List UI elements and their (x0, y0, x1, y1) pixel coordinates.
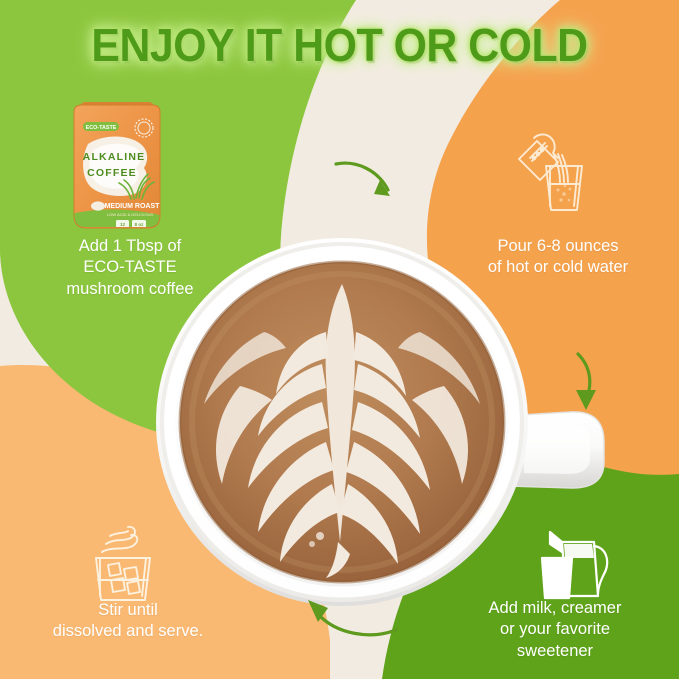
step-3-caption: Stir until dissolved and serve. (8, 600, 248, 643)
pouch-badge-left: 12 (120, 222, 126, 227)
page-title: ENJOY IT HOT OR COLD (24, 22, 655, 68)
iced-glass-stir-icon (80, 518, 166, 604)
arrow-step4-to-step3 (292, 588, 404, 646)
step-1-caption: Add 1 Tbsp of ECO-TASTE mushroom coffee (10, 236, 250, 300)
product-pouch-image: ECO-TASTE ALKALINE COFFEE MEDIUM ROAST L… (64, 98, 170, 233)
pouch-roast: MEDIUM ROAST (105, 203, 161, 210)
pouch-name-line1: ALKALINE (83, 151, 146, 163)
pouch-subtitle: LOW ACID & DELICIOUS (107, 212, 153, 217)
infographic-canvas: ENJOY IT HOT OR COLD (0, 0, 679, 679)
milk-pitcher-icon (528, 520, 614, 606)
arrow-step1-to-step2 (330, 150, 410, 212)
pour-water-icon (512, 128, 592, 214)
pouch-badge-right: 8 oz (135, 222, 145, 227)
arrow-step2-to-step4 (556, 352, 628, 418)
pouch-brand-text: ECO-TASTE (86, 125, 117, 131)
pouch-name-line2: COFFEE (87, 167, 137, 179)
step-2-caption: Pour 6-8 ounces of hot or cold water (438, 236, 678, 279)
step-4-caption: Add milk, creamer or your favorite sweet… (430, 598, 679, 662)
pouch-brand-tag: ECO-TASTE (83, 122, 119, 131)
